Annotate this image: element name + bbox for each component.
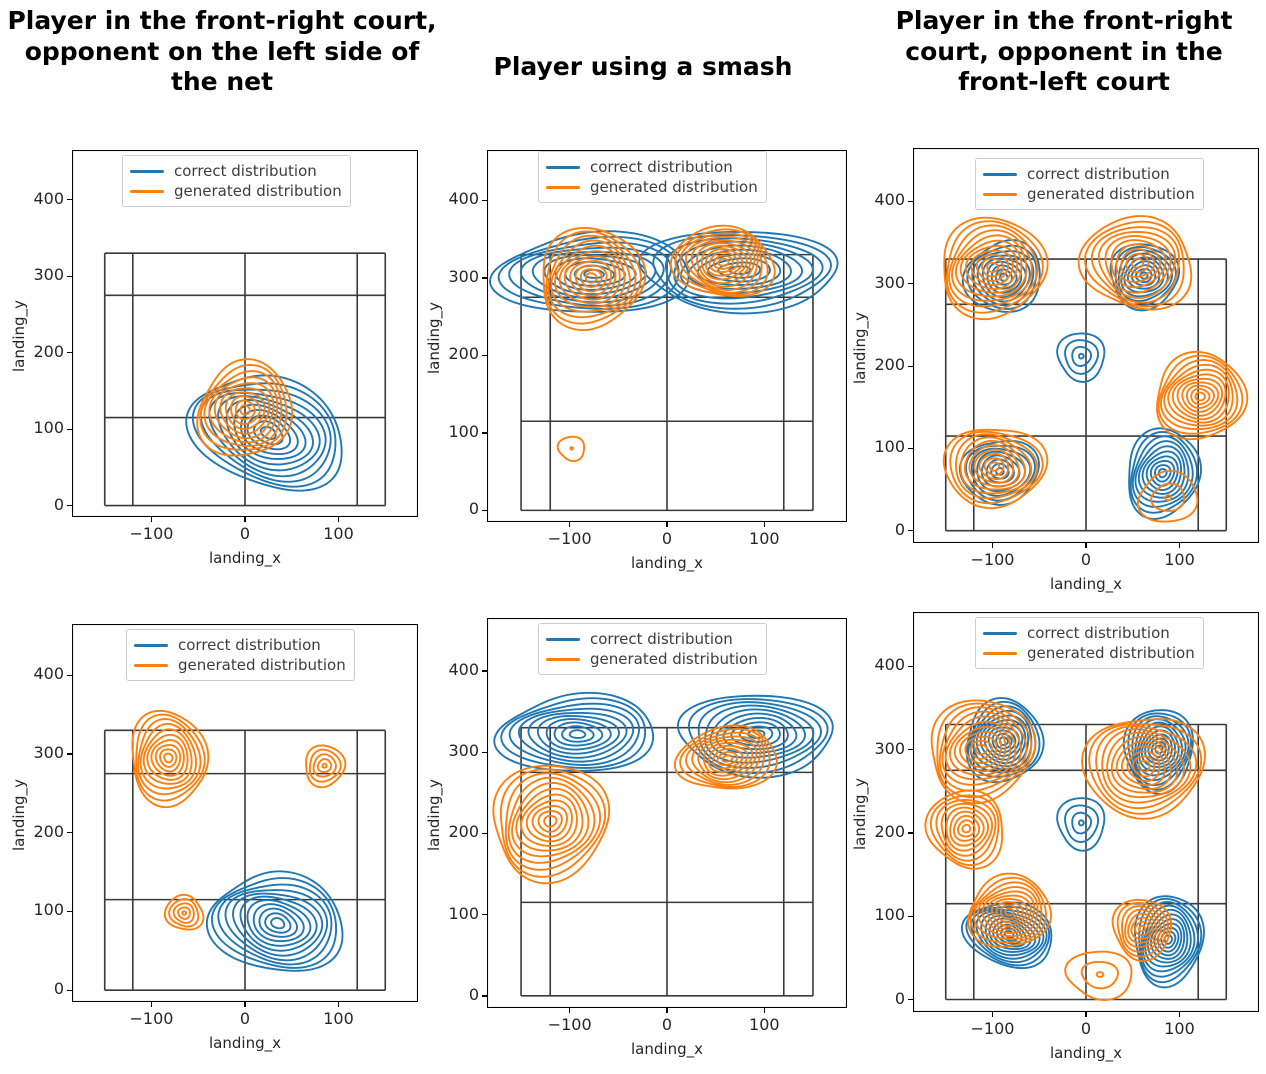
x-tick-mark <box>666 522 667 527</box>
y-tick-mark <box>67 675 72 676</box>
contour-series-correct <box>207 871 343 970</box>
x-tick-mark <box>151 1002 152 1007</box>
legend-line-icon <box>134 664 168 667</box>
x-tick-mark <box>569 1008 570 1013</box>
x-tick-mark <box>1085 543 1086 548</box>
legend-line-icon <box>983 173 1017 176</box>
y-tick-mark <box>482 355 487 356</box>
y-tick-mark <box>67 990 72 991</box>
legend-line-icon <box>546 638 580 641</box>
x-tick-label: 0 <box>205 1009 285 1028</box>
legend-label: correct distribution <box>590 630 733 648</box>
figure-canvas: Player in the front-right court, opponen… <box>0 0 1266 1074</box>
x-tick-label: 0 <box>627 1015 707 1034</box>
x-tick-label: 100 <box>724 529 804 548</box>
plot-area <box>487 618 847 1008</box>
legend: correct distributiongenerated distributi… <box>975 617 1204 669</box>
y-tick-mark <box>67 911 72 912</box>
x-tick-label: −100 <box>952 550 1032 569</box>
legend-label: correct distribution <box>174 162 317 180</box>
contour-plot-2 <box>487 150 847 522</box>
legend: correct distributiongenerated distributi… <box>975 158 1204 210</box>
y-tick-mark <box>482 432 487 433</box>
legend-item-generated-distribution[interactable]: generated distribution <box>983 184 1195 204</box>
plot-area <box>487 150 847 522</box>
x-tick-label: 0 <box>1046 550 1126 569</box>
x-tick-mark <box>764 522 765 527</box>
y-tick-mark <box>67 832 72 833</box>
legend-label: correct distribution <box>178 636 321 654</box>
legend-label: generated distribution <box>590 650 758 668</box>
legend-item-generated-distribution[interactable]: generated distribution <box>130 181 342 201</box>
contour-series-correct <box>960 240 1201 519</box>
x-tick-mark <box>764 1008 765 1013</box>
legend-item-generated-distribution[interactable]: generated distribution <box>546 177 758 197</box>
y-tick-label: 300 <box>435 741 479 760</box>
x-tick-mark <box>244 517 245 522</box>
x-tick-label: 100 <box>299 1009 379 1028</box>
y-tick-mark <box>482 277 487 278</box>
contour-series-correct <box>962 698 1204 987</box>
y-tick-label: 100 <box>20 900 64 919</box>
y-tick-label: 100 <box>435 904 479 923</box>
y-tick-mark <box>908 916 913 917</box>
legend-label: generated distribution <box>174 182 342 200</box>
legend-item-generated-distribution[interactable]: generated distribution <box>983 643 1195 663</box>
x-tick-mark <box>1179 1012 1180 1017</box>
y-tick-mark <box>908 283 913 284</box>
legend-line-icon <box>983 193 1017 196</box>
y-tick-mark <box>482 670 487 671</box>
x-tick-label: −100 <box>952 1019 1032 1038</box>
y-tick-label: 300 <box>861 273 905 292</box>
legend-line-icon <box>983 632 1017 635</box>
legend-label: generated distribution <box>1027 185 1195 203</box>
y-tick-label: 100 <box>861 905 905 924</box>
x-axis-label: landing_x <box>1041 575 1131 593</box>
y-tick-mark <box>482 752 487 753</box>
x-tick-mark <box>992 1012 993 1017</box>
y-axis-label: landing_y <box>425 302 443 374</box>
x-tick-mark <box>1085 1012 1086 1017</box>
legend-item-correct-distribution[interactable]: correct distribution <box>130 161 342 181</box>
x-tick-mark <box>992 543 993 548</box>
x-tick-mark <box>338 517 339 522</box>
legend-line-icon <box>130 190 164 193</box>
legend-line-icon <box>546 186 580 189</box>
badminton-court-lines <box>105 730 386 990</box>
y-tick-label: 300 <box>861 739 905 758</box>
y-tick-label: 0 <box>435 499 479 518</box>
legend-label: generated distribution <box>590 178 758 196</box>
legend: correct distributiongenerated distributi… <box>538 623 767 675</box>
column-title-1: Player in the front-right court, opponen… <box>2 6 442 98</box>
x-tick-mark <box>1179 543 1180 548</box>
y-axis-label: landing_y <box>851 778 869 850</box>
y-tick-mark <box>67 429 72 430</box>
y-tick-mark <box>482 914 487 915</box>
y-tick-label: 400 <box>20 189 64 208</box>
x-tick-mark <box>666 1008 667 1013</box>
x-tick-label: 0 <box>1046 1019 1126 1038</box>
x-tick-label: 100 <box>1140 550 1220 569</box>
x-tick-label: 0 <box>627 529 707 548</box>
legend-line-icon <box>134 644 168 647</box>
legend-item-correct-distribution[interactable]: correct distribution <box>134 635 346 655</box>
y-tick-label: 400 <box>861 190 905 209</box>
contour-plot-6 <box>913 612 1259 1012</box>
y-tick-label: 300 <box>20 743 64 762</box>
y-tick-mark <box>67 352 72 353</box>
x-axis-label: landing_x <box>200 549 290 567</box>
legend-line-icon <box>130 170 164 173</box>
y-tick-mark <box>67 276 72 277</box>
y-tick-mark <box>908 530 913 531</box>
plot-area <box>913 612 1259 1012</box>
contour-series-correct <box>490 231 838 313</box>
y-tick-mark <box>908 201 913 202</box>
x-axis-label: landing_x <box>622 1040 712 1058</box>
y-tick-mark <box>482 510 487 511</box>
legend-item-correct-distribution[interactable]: correct distribution <box>983 164 1195 184</box>
x-axis-label: landing_x <box>1041 1044 1131 1062</box>
x-tick-label: 100 <box>1140 1019 1220 1038</box>
y-axis-label: landing_y <box>851 312 869 384</box>
y-axis-label: landing_y <box>10 779 28 851</box>
x-tick-label: −100 <box>111 524 191 543</box>
legend-label: correct distribution <box>1027 165 1170 183</box>
legend-item-correct-distribution[interactable]: correct distribution <box>546 629 758 649</box>
legend-label: correct distribution <box>1027 624 1170 642</box>
legend-line-icon <box>983 652 1017 655</box>
x-tick-mark <box>244 1002 245 1007</box>
legend: correct distributiongenerated distributi… <box>122 155 351 207</box>
y-tick-mark <box>908 448 913 449</box>
y-tick-label: 100 <box>435 422 479 441</box>
y-tick-mark <box>908 999 913 1000</box>
y-tick-label: 400 <box>435 189 479 208</box>
x-tick-mark <box>151 517 152 522</box>
contour-series-generated <box>493 725 777 883</box>
y-tick-label: 400 <box>861 655 905 674</box>
x-tick-label: −100 <box>530 1015 610 1034</box>
column-title-2: Player using a smash <box>452 52 834 83</box>
legend: correct distributiongenerated distributi… <box>126 629 355 681</box>
x-tick-mark <box>338 1002 339 1007</box>
x-tick-label: −100 <box>530 529 610 548</box>
y-tick-mark <box>482 200 487 201</box>
contour-plot-5 <box>487 618 847 1008</box>
y-tick-label: 300 <box>435 267 479 286</box>
legend-item-generated-distribution[interactable]: generated distribution <box>546 649 758 669</box>
x-tick-mark <box>569 522 570 527</box>
y-tick-mark <box>482 995 487 996</box>
x-axis-label: landing_x <box>200 1034 290 1052</box>
x-axis-label: landing_x <box>622 554 712 572</box>
legend-label: generated distribution <box>1027 644 1195 662</box>
legend-line-icon <box>546 658 580 661</box>
y-tick-label: 0 <box>435 985 479 1004</box>
y-tick-mark <box>908 749 913 750</box>
y-tick-label: 0 <box>861 520 905 539</box>
legend-line-icon <box>546 166 580 169</box>
y-tick-label: 0 <box>20 495 64 514</box>
y-tick-label: 100 <box>861 437 905 456</box>
y-tick-mark <box>67 753 72 754</box>
y-tick-label: 400 <box>435 660 479 679</box>
y-tick-label: 100 <box>20 418 64 437</box>
x-tick-label: 0 <box>205 524 285 543</box>
y-tick-label: 0 <box>861 989 905 1008</box>
legend-item-correct-distribution[interactable]: correct distribution <box>983 623 1195 643</box>
y-tick-mark <box>908 366 913 367</box>
y-tick-mark <box>482 833 487 834</box>
x-tick-label: 100 <box>299 524 379 543</box>
legend: correct distributiongenerated distributi… <box>538 151 767 203</box>
y-tick-mark <box>908 666 913 667</box>
y-tick-mark <box>908 832 913 833</box>
legend-label: generated distribution <box>178 656 346 674</box>
legend-item-generated-distribution[interactable]: generated distribution <box>134 655 346 675</box>
y-tick-label: 0 <box>20 979 64 998</box>
y-tick-label: 300 <box>20 265 64 284</box>
x-tick-label: −100 <box>111 1009 191 1028</box>
y-tick-label: 400 <box>20 664 64 683</box>
y-tick-mark <box>67 199 72 200</box>
y-tick-mark <box>67 505 72 506</box>
legend-label: correct distribution <box>590 158 733 176</box>
column-title-3: Player in the front-right court, opponen… <box>866 6 1262 98</box>
legend-item-correct-distribution[interactable]: correct distribution <box>546 157 758 177</box>
x-tick-label: 100 <box>724 1015 804 1034</box>
y-axis-label: landing_y <box>425 779 443 851</box>
y-axis-label: landing_y <box>10 300 28 372</box>
